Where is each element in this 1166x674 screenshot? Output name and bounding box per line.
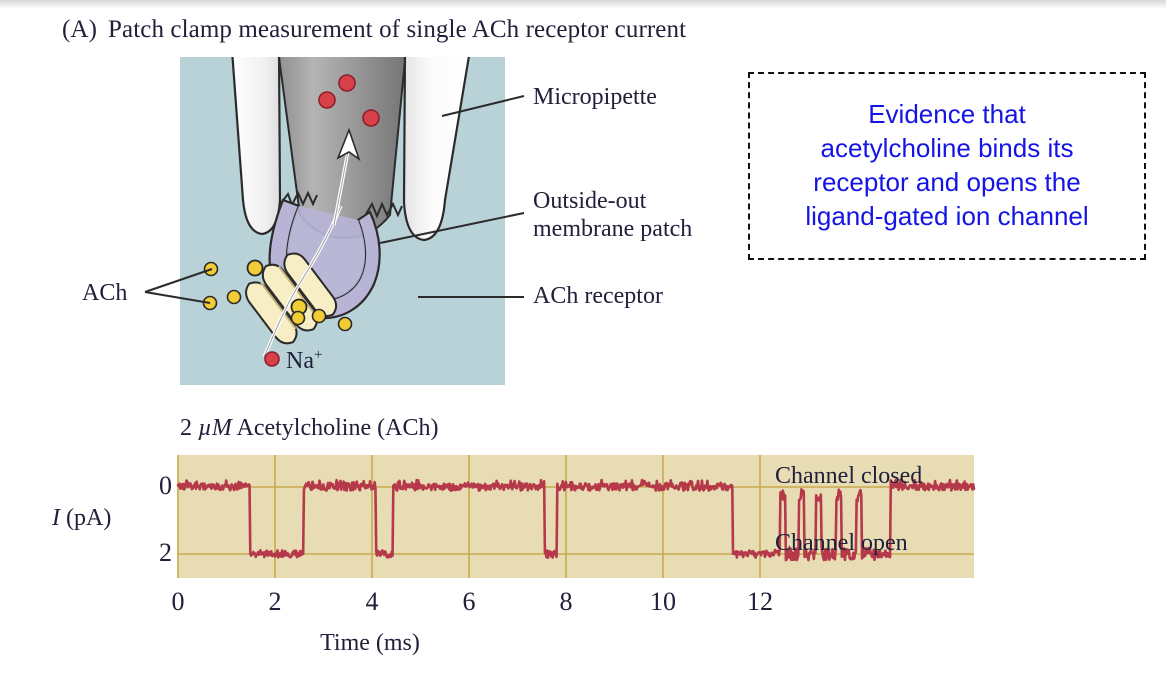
- chart-x-axis-label: Time (ms): [0, 630, 740, 657]
- callout-line-3: receptor and opens the: [813, 166, 1080, 200]
- label-ach: ACh: [82, 280, 127, 308]
- x-tick-0: 0: [156, 587, 200, 617]
- label-sodium-charge: +: [314, 347, 322, 363]
- callout-line-1: Evidence that: [868, 98, 1026, 132]
- x-tick-2: 2: [253, 587, 297, 617]
- sodium-ion-label-dot: [265, 352, 279, 366]
- figure-root: (A)Patch clamp measurement of single ACh…: [0, 0, 1166, 674]
- label-membrane-patch: Outside-out membrane patch: [533, 188, 692, 244]
- annotation-channel-open: Channel open: [775, 530, 908, 557]
- bound-ach-molecule-1: [248, 261, 263, 276]
- single-channel-recording-chart: 2 µM Acetylcholine (ACh) I (pA): [0, 400, 1166, 674]
- label-micropipette: Micropipette: [533, 84, 657, 112]
- free-ach-molecule-5: [313, 310, 326, 323]
- callout-box: Evidence that acetylcholine binds its re…: [748, 72, 1146, 260]
- label-membrane-patch-line2: membrane patch: [533, 216, 692, 244]
- free-ach-molecule-6: [339, 318, 352, 331]
- label-sodium-ion: Na+: [286, 348, 322, 376]
- y-tick-2: 2: [144, 538, 172, 568]
- x-tick-6: 6: [447, 587, 491, 617]
- callout-line-2: acetylcholine binds its: [821, 132, 1074, 166]
- x-tick-8: 8: [544, 587, 588, 617]
- callout-line-4: ligand-gated ion channel: [805, 200, 1088, 234]
- label-ach-receptor: ACh receptor: [533, 283, 663, 311]
- y-tick-0: 0: [144, 471, 172, 501]
- label-sodium-text: Na: [286, 348, 314, 374]
- sodium-ion-inside-3: [363, 110, 379, 126]
- sodium-ion-inside-1: [339, 75, 355, 91]
- annotation-channel-closed: Channel closed: [775, 463, 922, 490]
- free-ach-molecule-4: [292, 312, 305, 325]
- x-tick-12: 12: [738, 587, 782, 617]
- x-tick-4: 4: [350, 587, 394, 617]
- label-membrane-patch-line1: Outside-out: [533, 188, 692, 216]
- sodium-ion-inside-2: [319, 92, 335, 108]
- x-tick-10: 10: [641, 587, 685, 617]
- patch-clamp-diagram: Micropipette Outside-out membrane patch …: [0, 0, 760, 400]
- free-ach-molecule-3: [228, 291, 241, 304]
